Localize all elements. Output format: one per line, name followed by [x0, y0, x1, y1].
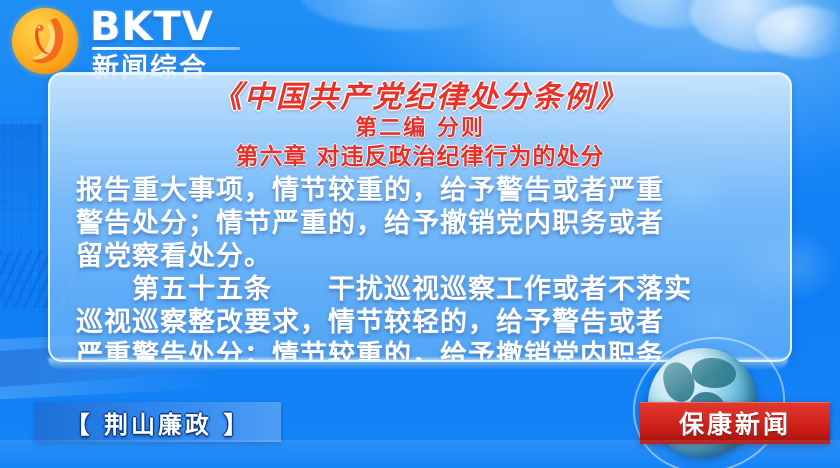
program-tag-banner: 【 荆山廉政 】	[35, 402, 281, 442]
body-line: 警告处分；情节严重的，给予撤销党内职务或者	[76, 207, 770, 240]
content-panel: 《中国共产党纪律处分条例》 第二编 分则 第六章 对违反政治纪律行为的处分 报告…	[48, 72, 792, 362]
phoenix-bird-icon	[12, 8, 78, 74]
cloud-decor-icon	[300, 0, 520, 30]
regulation-part: 第二编 分则	[50, 116, 790, 141]
body-line: 报告重大事项，情节较重的，给予警告或者严重	[76, 174, 770, 207]
program-tag-label: 【 荆山廉政 】	[66, 405, 251, 440]
station-tag-banner: 保康新闻	[640, 402, 830, 444]
body-line: 巡视巡察整改要求，情节较轻的，给予警告或者	[76, 306, 770, 339]
station-logo: BKTV 新闻综合	[4, 2, 294, 78]
regulation-body: 报告重大事项，情节较重的，给予警告或者严重 警告处分；情节严重的，给予撤销党内职…	[76, 174, 770, 362]
station-tag-label: 保康新闻	[679, 405, 791, 441]
station-name-block: BKTV 新闻综合	[90, 2, 290, 78]
body-line: 第五十五条 干扰巡视巡察工作或者不落实	[76, 273, 770, 306]
regulation-title: 《中国共产党纪律处分条例》	[50, 82, 790, 114]
bottom-glow	[0, 440, 840, 468]
body-line: 留党察看处分。	[76, 240, 770, 273]
regulation-chapter: 第六章 对违反政治纪律行为的处分	[50, 144, 790, 170]
channel-name: BKTV	[90, 4, 214, 50]
panel-title-block: 《中国共产党纪律处分条例》 第二编 分则 第六章 对违反政治纪律行为的处分	[50, 82, 790, 170]
tv-broadcast-frame: BKTV 新闻综合 《中国共产党纪律处分条例》 第二编 分则 第六章 对违反政治…	[0, 0, 840, 468]
